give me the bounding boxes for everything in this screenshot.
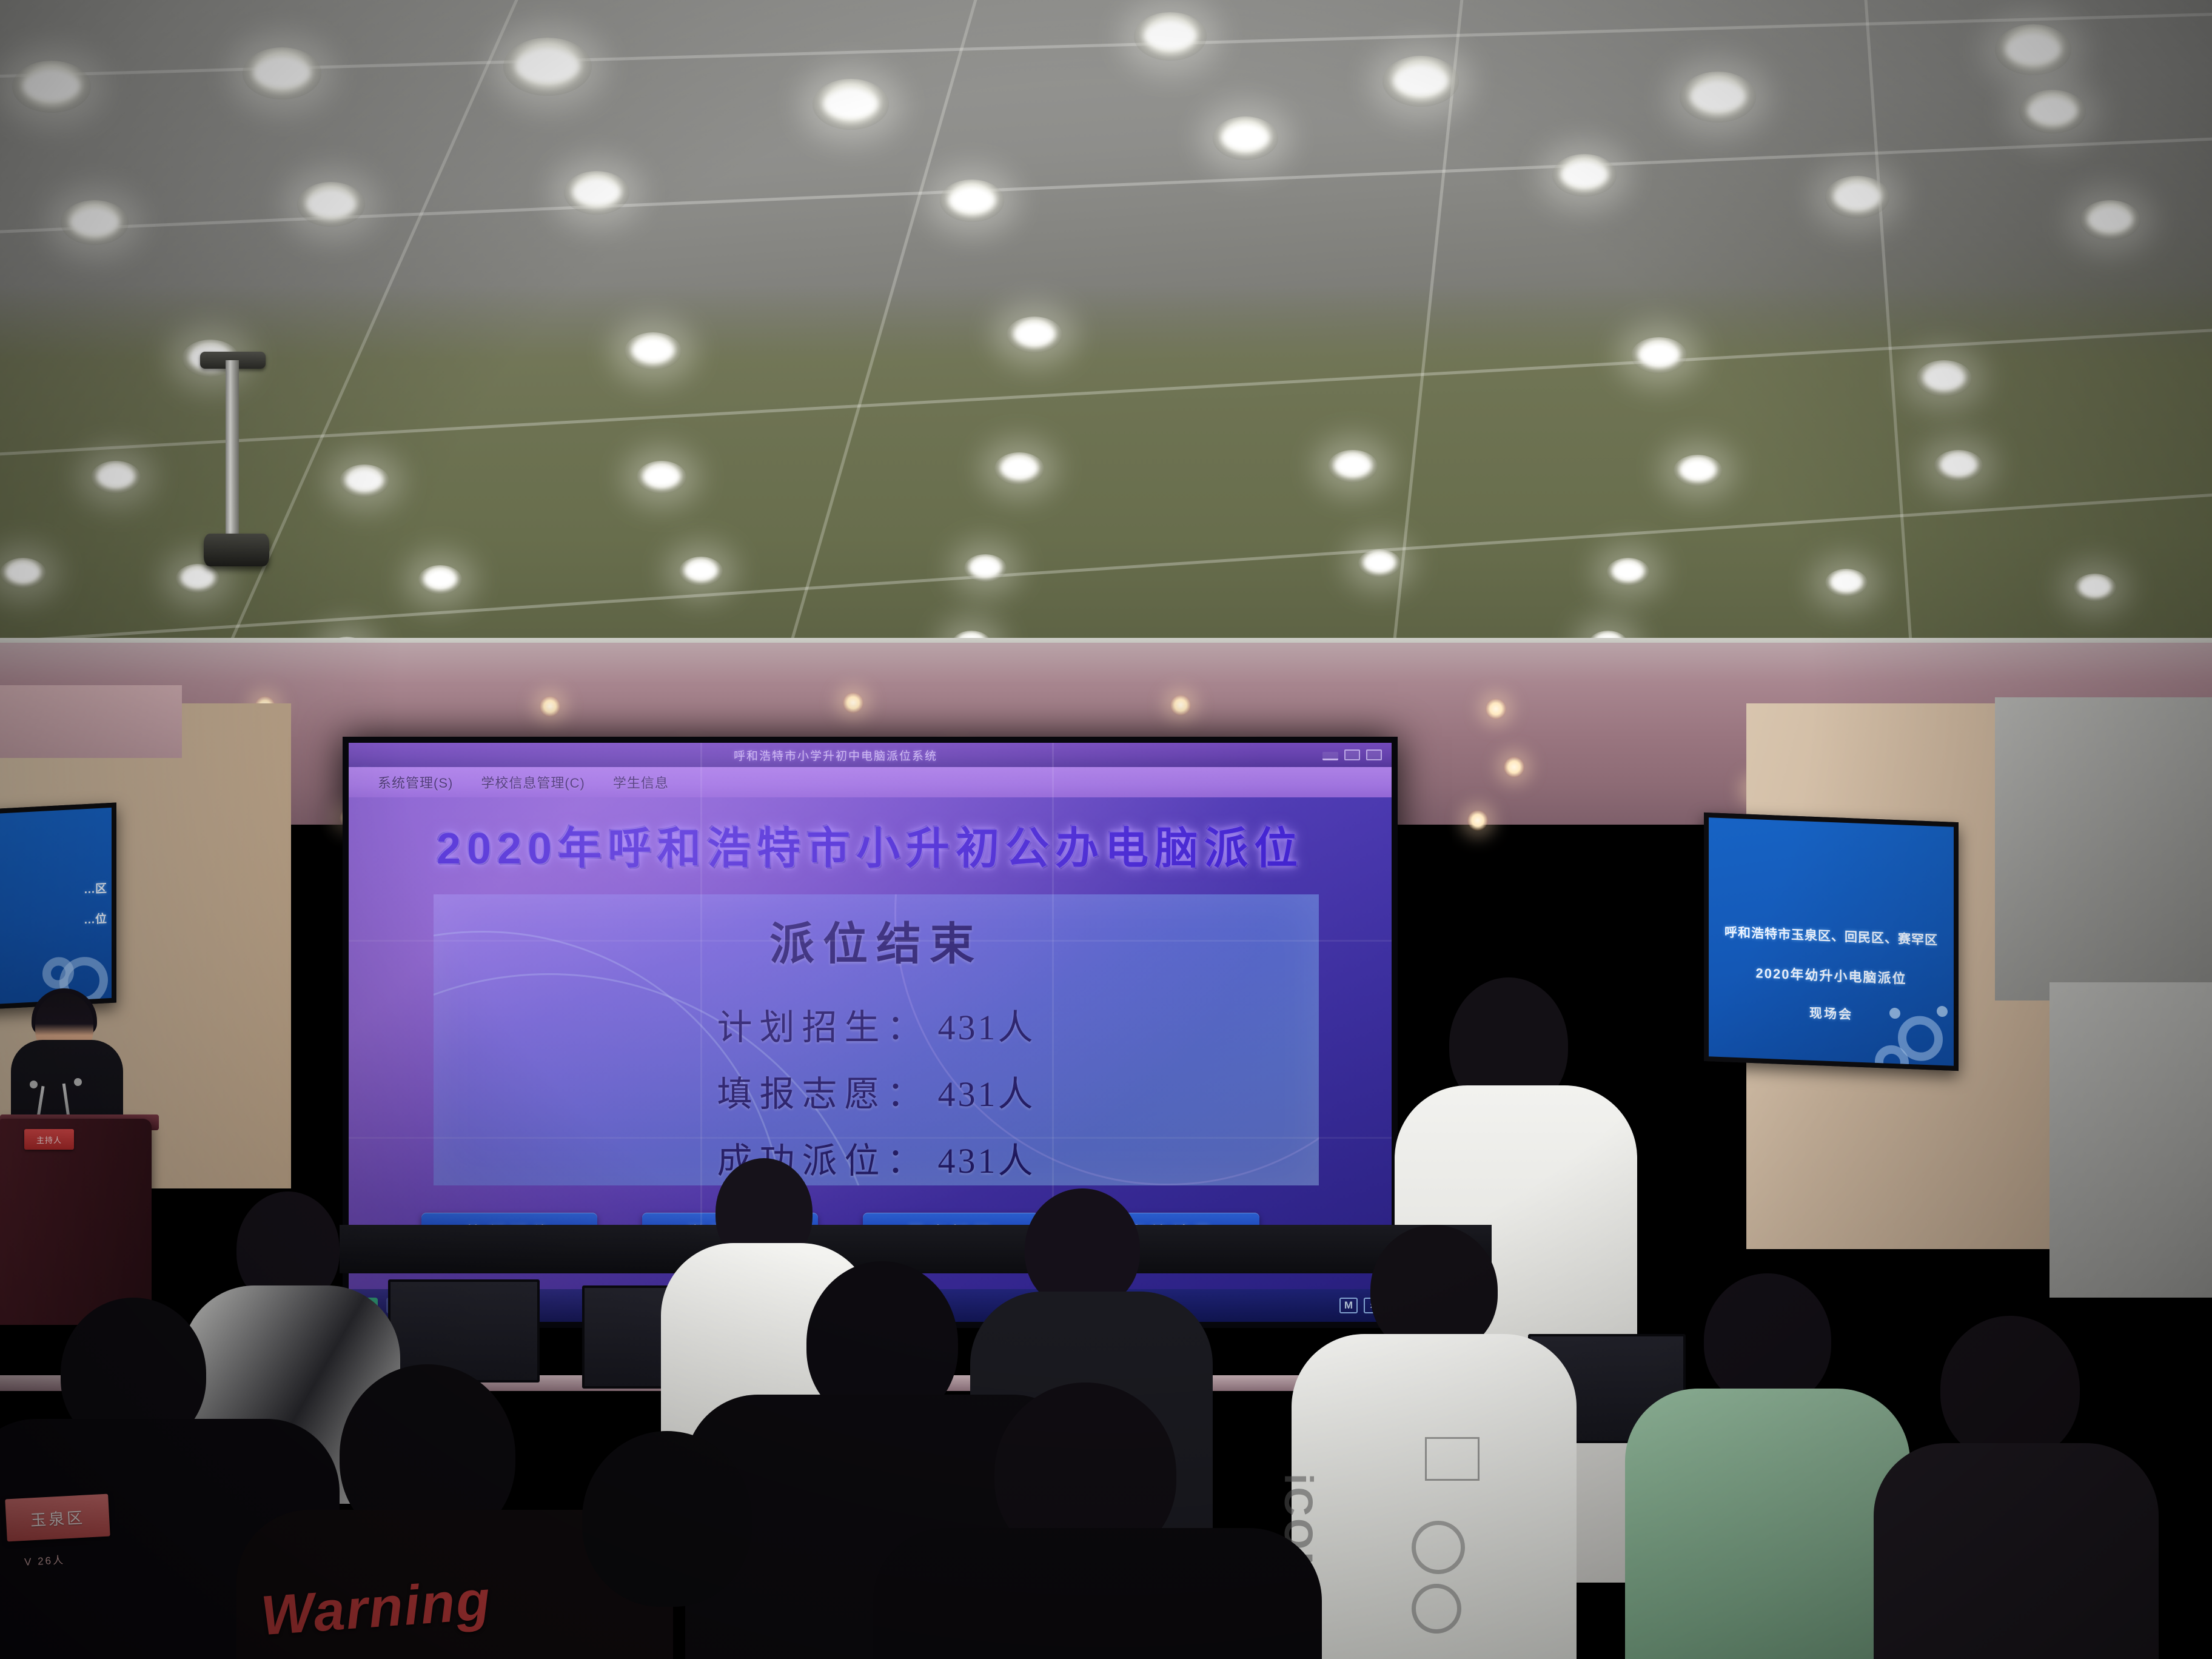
left-wall-tv: …区 …位 [0,802,116,1010]
downlight [1631,337,1687,374]
downlight [12,61,91,113]
downlight [503,38,592,96]
statistics-list: 计划招生： 431人 填报志愿： 431人 成功派位： 431人 [434,999,1319,1199]
tee-graphic-box [1425,1437,1480,1481]
foreground-shoulders [873,1528,1322,1659]
close-button[interactable] [1366,749,1382,760]
left-tv-line1: …区 [0,879,112,903]
audience-head [1940,1316,2080,1461]
downlight [1358,549,1401,577]
conference-hall-photo: 呼和浩特市小学升初中电脑派位系统 系统管理(S) 学校信息管理(C) 学生信息 … [0,0,2212,1659]
stat-value: 431人 [938,1132,1036,1183]
right-tv-screen: 呼和浩特市玉泉区、回民区、赛罕区 2020年幼升小电脑派位 现场会 [1709,817,1954,1066]
right-wall-door [2049,982,2212,1298]
downlight [1607,558,1649,586]
stage-spotlight [843,692,863,713]
downlight [637,461,686,494]
result-panel: 派位结束 计划招生： 431人 填报志愿： 431人 成功派位： 431人 [434,894,1319,1185]
downlight [1995,24,2071,75]
downlight [1674,455,1722,486]
microphone-head [30,1081,38,1088]
downlight [679,557,723,586]
tee-graphic-ring [1412,1584,1461,1634]
front-desk [340,1225,1492,1273]
downlight [1680,72,1756,122]
maximize-button[interactable] [1344,749,1360,760]
projector-pole [226,360,239,542]
downlight [1134,12,1207,61]
stat-value: 431人 [938,999,1036,1050]
downlight [1934,450,1983,481]
downlight [1382,56,1459,107]
ceiling [0,0,2212,703]
downlight [1328,450,1378,483]
window-controls [1322,749,1392,760]
downlight [964,554,1007,582]
right-wall-tv: 呼和浩特市玉泉区、回民区、赛罕区 2020年幼升小电脑派位 现场会 [1704,813,1959,1071]
downlight [625,332,682,370]
downlight [91,461,141,494]
left-wall-trim [0,685,182,758]
stage-spotlight [1467,810,1488,831]
downlight [0,558,46,588]
audience-head [1704,1273,1831,1407]
downlight [994,452,1044,485]
ceiling-projector [204,534,269,566]
stage-spotlight [1170,695,1191,716]
left-tv-line2: …位 [0,910,112,933]
downlight [2074,574,2116,602]
downlight [1552,154,1617,196]
stage-spotlight [1486,699,1506,719]
district-placard-sub: V 26人 [24,1551,65,1568]
stat-value: 431人 [938,1065,1036,1116]
downlight [340,464,389,497]
tray-m-icon[interactable]: M [1339,1298,1358,1313]
downlight [2019,90,2086,133]
downlight [564,171,629,215]
window-titlebar: 呼和浩特市小学升初中电脑派位系统 [349,743,1392,767]
downlight [1825,569,1868,597]
podium-nameplate: 主持人 [24,1129,74,1150]
menu-item-school[interactable]: 学校信息管理(C) [481,773,585,792]
downlight [940,179,1004,222]
foreground-head [582,1431,752,1607]
app-headline: 2020年呼和浩特市小升初公办电脑派位 [349,813,1392,876]
downlight [2080,200,2140,240]
ceiling-seam [0,7,2212,81]
downlight [61,200,129,245]
stat-label: 计划招生： [717,999,929,1050]
downlight [297,182,365,227]
audience-green-top [1625,1389,1910,1659]
downlight [176,564,220,593]
right-tv-line1: 呼和浩特市玉泉区、回民区、赛罕区 [1709,922,1954,950]
menubar: 系统管理(S) 学校信息管理(C) 学生信息 [349,767,1392,797]
stat-row: 计划招生： 431人 [434,999,1319,1050]
right-tv-line2: 2020年幼升小电脑派位 [1709,960,1954,990]
stage-spotlight [540,696,560,717]
downlight [243,47,321,99]
minimize-button[interactable] [1322,752,1338,760]
tee-graphic-ring [1412,1521,1465,1574]
district-placard: 玉泉区 [5,1494,110,1542]
podium [0,1119,152,1325]
left-tv-screen: …区 …位 [0,808,112,1005]
stat-row: 成功派位： 431人 [434,1132,1319,1183]
downlight [418,565,462,594]
stage-spotlight [1504,757,1524,777]
right-wall-panel [1995,697,2212,1000]
downlight [1213,116,1278,160]
menu-item-system[interactable]: 系统管理(S) [378,773,453,792]
stat-row: 填报志愿： 431人 [434,1065,1319,1116]
downlight [1007,317,1062,353]
microphone-head [74,1078,82,1086]
window-title: 呼和浩特市小学升初中电脑派位系统 [349,747,1322,763]
audience-shoulders [1874,1443,2159,1659]
downlight [1825,176,1889,218]
stat-label: 填报志愿： [717,1065,929,1116]
downlight [813,79,889,130]
downlight [1916,360,1972,397]
menu-item-student[interactable]: 学生信息 [613,773,669,792]
